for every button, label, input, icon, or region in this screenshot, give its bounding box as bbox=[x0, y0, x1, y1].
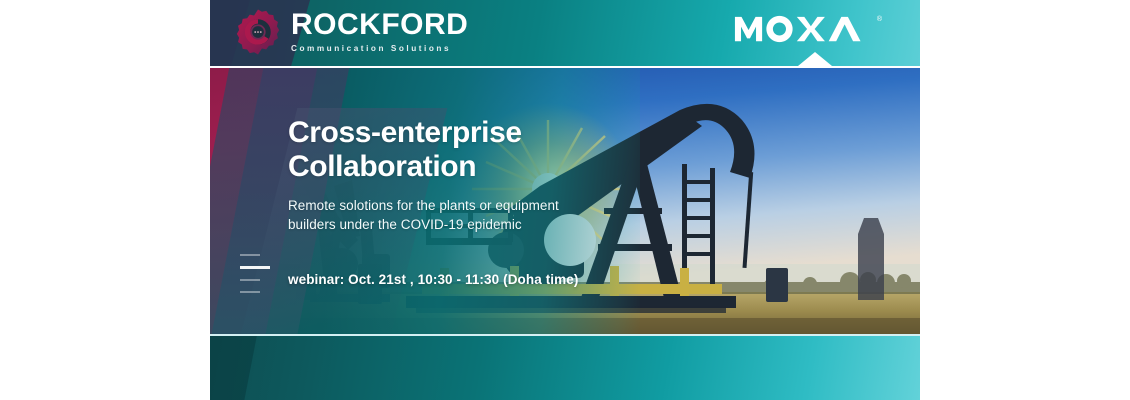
hero-title-line-2: Collaboration bbox=[288, 150, 618, 184]
slide-indicator-dash-2[interactable] bbox=[240, 266, 270, 269]
hero-subtitle: Remote solotions for the plants or equip… bbox=[288, 196, 618, 234]
rockford-logo[interactable]: ROCKFORD Communication Solutions bbox=[234, 8, 468, 56]
slide-indicator-dash-4[interactable] bbox=[240, 291, 260, 293]
hero-copy-block: Cross-enterprise Collaboration Remote so… bbox=[288, 116, 618, 234]
footer-decorative-wedge bbox=[210, 336, 259, 400]
banner-footer-bar bbox=[210, 336, 920, 400]
hero-subtitle-line-2: builders under the COVID-19 epidemic bbox=[288, 215, 618, 234]
gear-icon bbox=[234, 8, 282, 56]
rockford-wordmark: ROCKFORD Communication Solutions bbox=[291, 10, 468, 53]
hero-title-line-1: Cross-enterprise bbox=[288, 116, 618, 150]
hero-subtitle-line-1: Remote solotions for the plants or equip… bbox=[288, 196, 618, 215]
rockford-tagline: Communication Solutions bbox=[291, 44, 468, 54]
page-title: Cross-enterprise Collaboration bbox=[288, 116, 618, 184]
moxa-wordmark-icon bbox=[734, 14, 875, 44]
slide-indicator-dash-1[interactable] bbox=[240, 254, 260, 256]
rockford-brand-name: ROCKFORD bbox=[291, 10, 468, 41]
banner-header-bar: ROCKFORD Communication Solutions bbox=[210, 0, 920, 66]
header-triangle-notch-icon bbox=[798, 52, 832, 66]
webinar-schedule-text: webinar: Oct. 21st , 10:30 - 11:30 (Doha… bbox=[288, 272, 578, 287]
slide-indicator[interactable] bbox=[240, 254, 270, 293]
registered-trademark-icon: ® bbox=[877, 16, 882, 23]
moxa-logo[interactable]: ® bbox=[734, 14, 882, 44]
screenshot-canvas: ROCKFORD Communication Solutions bbox=[0, 0, 1130, 400]
webinar-promo-banner: ROCKFORD Communication Solutions bbox=[210, 0, 920, 400]
hero-section: Cross-enterprise Collaboration Remote so… bbox=[210, 68, 920, 334]
slide-indicator-dash-3[interactable] bbox=[240, 279, 260, 281]
